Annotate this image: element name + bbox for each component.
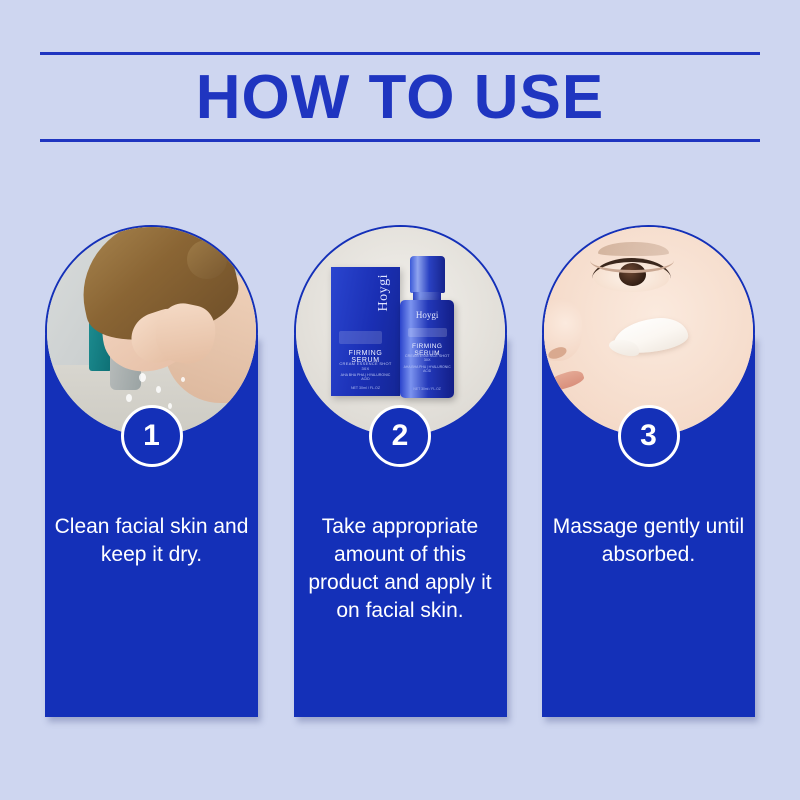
title-rule-bottom (40, 139, 760, 142)
step-card-3: 3 Massage gently until absorbed. (542, 225, 755, 438)
steps-row: 1 Clean facial skin and keep it dry. Hoy… (45, 225, 755, 438)
bottle-volume: NET 30ml / FL.OZ (402, 387, 452, 391)
poster: HOW TO USE (0, 0, 800, 800)
step-caption-2: Take appropriate amount of this product … (302, 513, 499, 625)
title-block: HOW TO USE (40, 52, 760, 142)
product-box-subtitle: CREAM ESSENCE SHOT 30X (337, 361, 395, 371)
bottle-subtitle: CREAM ESSENCE SHOT 30X (402, 354, 452, 362)
step-number-badge-1: 1 (121, 405, 183, 467)
page-title: HOW TO USE (40, 61, 760, 135)
step-number-badge-3: 3 (618, 405, 680, 467)
product-bottle: Hoygi FIRMING SERUM CREAM ESSENCE SHOT 3… (400, 256, 454, 398)
product-box-ingredients: AHA BHA PHA | HYALURONIC ACID (337, 373, 395, 381)
lower-eyelid (590, 248, 674, 273)
product-box-claim-chip (339, 331, 382, 344)
product-box-brand: Hoygi (376, 274, 392, 312)
step-card-2: Hoygi FIRMING SERUM CREAM ESSENCE SHOT 3… (294, 225, 507, 438)
product-box: Hoygi FIRMING SERUM CREAM ESSENCE SHOT 3… (331, 267, 400, 397)
water-drop (168, 403, 172, 409)
water-drop (156, 386, 161, 393)
bottle-body: Hoygi FIRMING SERUM CREAM ESSENCE SHOT 3… (400, 300, 454, 398)
bottle-cap (410, 256, 445, 293)
product-box-volume: NET 30ml / FL.OZ (337, 386, 395, 390)
bottle-ingredients: AHA BHA PHA | HYALURONIC ACID (402, 365, 452, 373)
bottle-brand: Hoygi (400, 310, 454, 320)
bottle-claim-chip (408, 328, 447, 337)
step-caption-3: Massage gently until absorbed. (550, 513, 747, 569)
hair-bun (187, 240, 227, 280)
step-number-badge-2: 2 (369, 405, 431, 467)
step-caption-1: Clean facial skin and keep it dry. (53, 513, 250, 569)
step-card-1: 1 Clean facial skin and keep it dry. (45, 225, 258, 438)
title-rule-top (40, 52, 760, 55)
